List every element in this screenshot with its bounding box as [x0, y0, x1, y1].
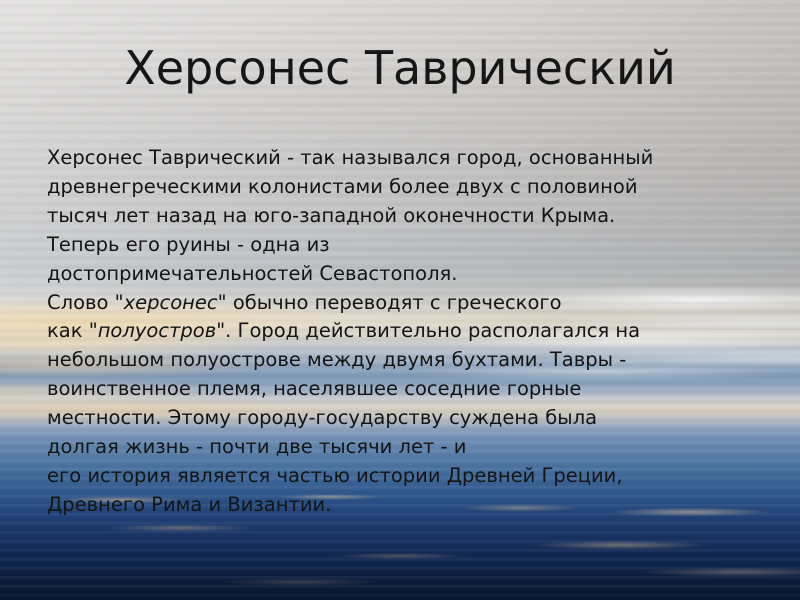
body-line: Теперь его руины - одна из	[47, 231, 777, 260]
body-line: небольшом полуострове между двумя бухтам…	[47, 346, 777, 375]
presentation-slide: Херсонес Таврический Херсонес Таврически…	[0, 0, 800, 600]
body-line: достопримечательностей Севастополя.	[47, 260, 777, 289]
body-line: древнегреческими колонистами более двух …	[47, 173, 777, 202]
body-line-with-emphasis: как "полуостров". Город действительно ра…	[47, 317, 777, 346]
body-line: местности. Этому городу-государству сужд…	[47, 404, 777, 433]
body-line: воинственное племя, населявшее соседние …	[47, 375, 777, 404]
body-line: Древнего Рима и Византии.	[47, 491, 777, 520]
line-text-after: ". Город действительно располагался на	[216, 319, 640, 342]
body-line: долгая жизнь - почти две тысячи лет - и	[47, 433, 777, 462]
emphasis-term: херсонес	[124, 291, 218, 314]
emphasis-term: полуостров	[98, 319, 217, 342]
line-text-before: Слово "	[47, 291, 124, 314]
body-line: его история является частью истории Древ…	[47, 462, 777, 491]
slide-content: Херсонес Таврический Херсонес Таврически…	[0, 0, 800, 600]
slide-body-text: Херсонес Таврический - так назывался гор…	[47, 144, 777, 520]
body-line-with-emphasis: Слово "херсонес" обычно переводят с греч…	[47, 289, 777, 318]
body-line: Херсонес Таврический - так назывался гор…	[47, 144, 777, 173]
line-text-before: как "	[47, 319, 98, 342]
body-line: тысяч лет назад на юго-западной оконечно…	[47, 202, 777, 231]
slide-title: Херсонес Таврический	[0, 40, 800, 96]
line-text-after: " обычно переводят с греческого	[218, 291, 562, 314]
